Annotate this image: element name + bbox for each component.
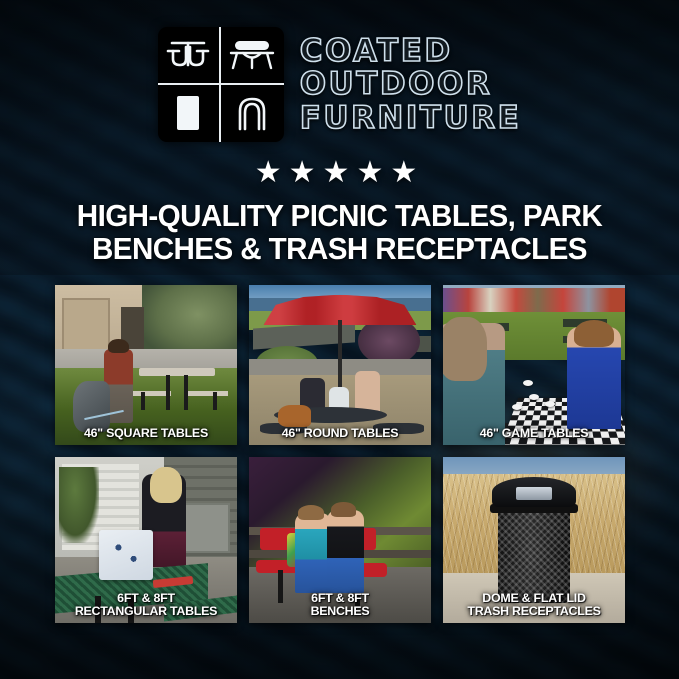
product-tile-benches[interactable]: 6FT & 8FT BENCHES bbox=[249, 457, 431, 623]
logo-word-outdoor: OUTDOOR bbox=[300, 68, 522, 101]
tile-caption: 6FT & 8FT RECTANGULAR TABLES bbox=[57, 592, 235, 618]
star-icon-3: ★ bbox=[323, 158, 357, 188]
caption-line-1: 46" SQUARE TABLES bbox=[57, 427, 235, 440]
tile-caption: 46" ROUND TABLES bbox=[251, 427, 429, 440]
game-tables-photo bbox=[443, 285, 625, 445]
caption-line-1: 6FT & 8FT bbox=[57, 592, 235, 605]
promo-banner: COATED OUTDOOR FURNITURE ★★★★★ HIGH-QUAL… bbox=[0, 0, 679, 679]
tile-caption: 46" GAME TABLES bbox=[445, 427, 623, 440]
picnic-table-icon bbox=[158, 27, 221, 85]
headline-line-1: HIGH-QUALITY PICNIC TABLES, PARK bbox=[77, 199, 602, 233]
product-tile-trash-receptacles[interactable]: DOME & FLAT LID TRASH RECEPTACLES bbox=[443, 457, 625, 623]
star-icon-2: ★ bbox=[289, 158, 323, 188]
logo-icon-grid bbox=[158, 27, 284, 142]
logo-wordmark: COATED OUTDOOR FURNITURE bbox=[300, 35, 522, 135]
caption-line-2: TRASH RECEPTACLES bbox=[445, 605, 623, 618]
tile-caption: 6FT & 8FT BENCHES bbox=[251, 592, 429, 618]
product-tile-square-tables[interactable]: 46" SQUARE TABLES bbox=[55, 285, 237, 445]
caption-line-1: 46" ROUND TABLES bbox=[251, 427, 429, 440]
product-grid: 46" SQUARE TABLES 46" ROUND TABLES bbox=[55, 285, 625, 623]
headline: HIGH-QUALITY PICNIC TABLES, PARK BENCHES… bbox=[37, 200, 641, 266]
logo-word-coated: COATED bbox=[300, 35, 522, 68]
caption-line-2: BENCHES bbox=[251, 605, 429, 618]
caption-line-1: 46" GAME TABLES bbox=[445, 427, 623, 440]
caption-line-2: RECTANGULAR TABLES bbox=[57, 605, 235, 618]
tile-caption: 46" SQUARE TABLES bbox=[57, 427, 235, 440]
star-icon-5: ★ bbox=[390, 158, 424, 188]
product-tile-round-tables[interactable]: 46" ROUND TABLES bbox=[249, 285, 431, 445]
park-bench-icon bbox=[221, 27, 284, 85]
logo-word-furniture: FURNITURE bbox=[300, 102, 522, 135]
brand-logo: COATED OUTDOOR FURNITURE bbox=[0, 27, 679, 142]
caption-line-1: DOME & FLAT LID bbox=[445, 592, 623, 605]
round-tables-photo bbox=[249, 285, 431, 445]
product-tile-game-tables[interactable]: 46" GAME TABLES bbox=[443, 285, 625, 445]
tile-caption: DOME & FLAT LID TRASH RECEPTACLES bbox=[445, 592, 623, 618]
bike-rack-icon bbox=[221, 85, 284, 143]
square-tables-photo bbox=[55, 285, 237, 445]
star-icon-1: ★ bbox=[255, 158, 289, 188]
headline-line-2: BENCHES & TRASH RECEPTACLES bbox=[37, 233, 641, 266]
star-rating: ★★★★★ bbox=[0, 158, 679, 188]
star-icon-4: ★ bbox=[356, 158, 390, 188]
caption-line-1: 6FT & 8FT bbox=[251, 592, 429, 605]
trash-receptacle-icon bbox=[158, 85, 221, 143]
product-tile-rectangular-tables[interactable]: 6FT & 8FT RECTANGULAR TABLES bbox=[55, 457, 237, 623]
